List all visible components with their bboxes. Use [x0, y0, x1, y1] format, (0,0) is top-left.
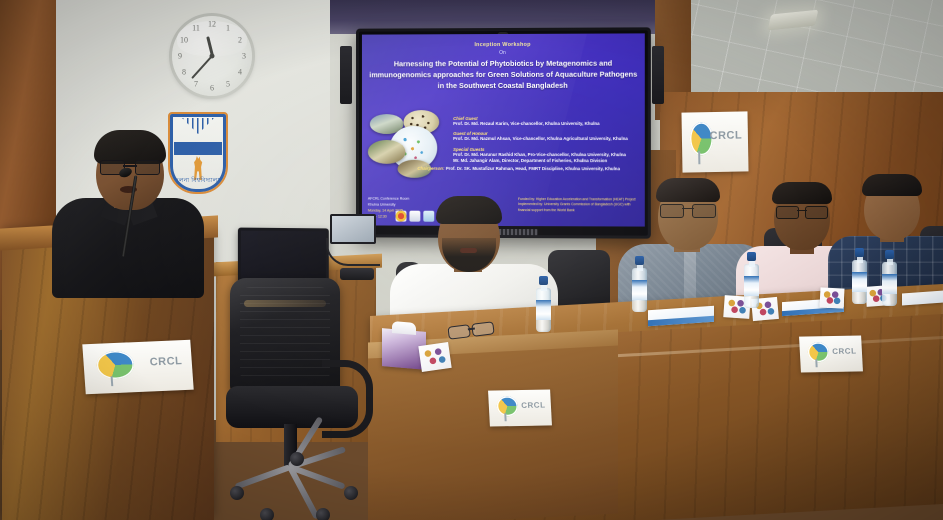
bottle-neck [541, 284, 547, 291]
speaker-box [652, 46, 664, 104]
bottle-label [882, 274, 897, 294]
chair-armrest [322, 360, 373, 438]
clock-numeral: 5 [226, 80, 230, 89]
guest-name: Prof. Dr. Md. Rezaul Karim, Vice-chancel… [453, 121, 641, 127]
chair-caster [260, 508, 274, 520]
afcrl-wall-logo: CRCL [681, 111, 748, 172]
logo-graphic: CRCL [686, 119, 744, 166]
logo-wordmark: CRCL [832, 346, 857, 355]
clock-numeral: 10 [180, 36, 188, 45]
chairperson-name: Prof. Dr. SK. Mustafizur Rahman, Head, F… [446, 166, 620, 171]
afcrl-table-logo: CRCL [488, 389, 552, 426]
logo-graphic: CRCL [90, 346, 185, 388]
clock-numeral: 7 [194, 80, 198, 89]
speaker-at-podium [56, 128, 196, 278]
chair-caster [344, 486, 358, 500]
chair-caster [316, 508, 330, 520]
bottle-cap [747, 252, 756, 261]
chair-caster [290, 452, 304, 466]
magnifier-handle-icon [815, 360, 817, 368]
slide-eyebrow: Inception Workshop [362, 41, 645, 48]
clock-numeral: 12 [208, 20, 216, 29]
clock-numeral: 9 [178, 52, 182, 61]
bottle-label [632, 280, 647, 300]
clock-center-pin [210, 54, 215, 59]
slide-eyebrow-on: On [362, 49, 645, 56]
bottle-neck [749, 260, 755, 267]
glasses-lens [692, 204, 716, 218]
glasses-lens [776, 206, 799, 219]
glasses-lens [660, 204, 684, 218]
magnifying-glass-icon [496, 396, 518, 416]
clock-numeral: 6 [210, 84, 214, 93]
glasses-bridge [682, 208, 694, 209]
tissue-sheet [392, 321, 416, 335]
panelist-mouth [460, 248, 477, 253]
water-bottle [744, 252, 759, 308]
front-table-front [368, 345, 618, 520]
chair-caster [230, 486, 244, 500]
chair-leg [234, 464, 291, 489]
chair-base [232, 464, 350, 478]
logo-wordmark: CRCL [709, 130, 742, 143]
panelist-hair [656, 178, 720, 202]
clock-minute-hand [191, 55, 213, 79]
speaker-box [340, 46, 352, 104]
napkin-holder [819, 287, 844, 308]
logo-wordmark: CRCL [521, 400, 546, 409]
glasses-lens [805, 206, 828, 219]
panelist-hair [862, 174, 922, 196]
glasses-lens [447, 324, 470, 340]
magnifying-glass-icon [807, 342, 829, 362]
bottle-neck [857, 256, 863, 263]
guest-name: Prof. Dr. Md. Nazmul Ahsan, Vice-chancel… [453, 136, 641, 142]
magnifying-glass-icon [96, 350, 135, 379]
bottle-neck [637, 264, 643, 271]
logo-graphic: CRCL [493, 394, 548, 422]
bottle-neck [887, 258, 893, 265]
clock-numeral: 3 [242, 52, 246, 61]
chairperson-role: Chairperson: [417, 166, 444, 171]
clock-numeral: 2 [238, 36, 242, 45]
cable [326, 238, 380, 266]
clock-numeral: 11 [192, 24, 200, 33]
glasses-bridge [797, 210, 807, 211]
wall-clock: 12 1 2 3 4 5 6 7 8 9 10 11 [172, 16, 252, 96]
bottle-cap [635, 256, 644, 265]
water-bottle [852, 248, 867, 304]
magnifier-handle-icon [504, 414, 506, 422]
photo-scene: 12 1 2 3 4 5 6 7 8 9 10 11 খুলনা বিশ্ববি… [0, 0, 943, 520]
slide-title: Harnessing the Potential of Phytobiotics… [366, 59, 641, 93]
panelist-hair [436, 196, 502, 224]
glasses-bridge [123, 165, 137, 167]
water-bottle [882, 250, 897, 306]
water-bottle [536, 276, 551, 332]
clock-numeral: 8 [182, 68, 186, 77]
chair-lumbar-support [244, 300, 326, 307]
bottle-label [852, 272, 867, 292]
bottle-cap [885, 250, 894, 259]
office-chair [226, 278, 372, 520]
water-bottle [632, 256, 647, 312]
slide-guest-list: Chief Guest Prof. Dr. Md. Rezaul Karim, … [453, 112, 641, 165]
glasses-lens [135, 160, 160, 175]
eyeglasses-icon [660, 204, 716, 216]
magnifier-handle-icon [698, 151, 700, 164]
afcrl-table-logo: CRCL [799, 335, 863, 372]
napkin-holder [418, 342, 451, 372]
logo-wordmark: CRCL [149, 355, 182, 368]
logo-graphic: CRCL [804, 340, 859, 368]
eyeglasses-icon [776, 206, 828, 217]
speaker-hair [94, 130, 166, 164]
panelist-hair [772, 182, 832, 204]
guest-name: Mr. Md. Jahangir Alam, Director, Departm… [453, 158, 641, 165]
clock-numeral: 4 [238, 68, 242, 77]
bottle-cap [539, 276, 548, 285]
afcrl-podium-logo: CRCL [82, 340, 193, 395]
fish-figure [368, 140, 406, 164]
bottle-cap [855, 248, 864, 257]
slide-chairperson: Chairperson: Prof. Dr. SK. Mustafizur Ra… [417, 166, 640, 171]
bottle-label [744, 276, 759, 296]
clock-numeral: 1 [226, 24, 230, 33]
bottle-label [536, 300, 551, 320]
